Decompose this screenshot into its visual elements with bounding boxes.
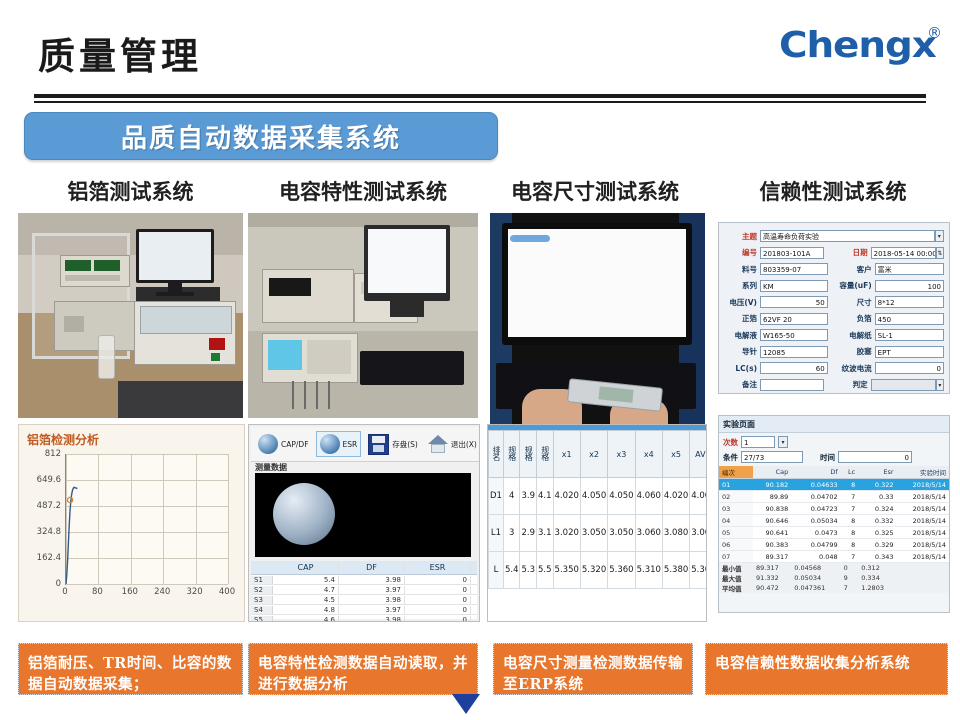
form-row-9[interactable]: LC(s)60纹波电流0 [719,361,944,376]
measurement-cell: S3 [251,596,273,604]
network-globe-icon [273,483,335,545]
summary-cell: 0.334 [858,573,896,583]
brand-wordmark: Chengx [779,28,936,64]
reliability-cell: 0.324 [858,503,896,515]
form-input[interactable]: 0 [875,362,944,374]
measurement-data-grid[interactable]: CAPDFESRS15.43.980S24.73.970S34.53.980S4… [251,561,477,619]
dimension-cell: D1 [489,478,504,515]
table-row[interactable]: S24.73.970 [251,585,477,595]
dimension-header-row: 排名规格规格规格x1x2x3x4x5AVG结果 [489,431,708,478]
chart-gridline-vertical [228,454,229,584]
measurement-grid-col-2: CAP [273,563,339,572]
toolbar-button-label: ESR [343,440,358,449]
form-row-7[interactable]: 电解液W165-50电解纸SL-1 [719,328,944,343]
reliability-col-6[interactable]: 实验时间 [897,466,949,479]
measurement-cell: 3.98 [339,596,405,604]
form-label: 容量(uF) [834,280,875,291]
table-row[interactable]: L5.45.35.55.3505.3205.3605.3105.3805.300… [489,552,708,589]
measurement-cell: 0 [405,586,471,594]
reliability-cell: 8 [841,539,859,551]
dimension-cell: 5.310 [635,552,662,589]
table-row[interactable]: 0190.1820.0463380.3222018/5/14 [719,479,949,491]
summary-cell: 1.2803 [858,583,896,593]
dimension-cell: 4.050 [580,478,607,515]
measurement-section-label: 测量数据 [255,462,287,473]
column-heading-foil: 铝箔测试系统 [18,176,243,204]
measurement-grid-col-3: DF [339,563,405,572]
reliability-cell: 2018/5/14 [897,539,949,551]
reliability-cell: 06 [719,539,753,551]
dimension-cell: 4.050 [608,478,635,515]
dimension-cell: 4.020 [553,478,580,515]
dimension-cell: 4.060 [635,478,662,515]
summary-cell: 0.312 [858,563,896,574]
measurement-software-panel[interactable]: CAP/DFESR存盘(S)退出(X) 测量数据 CAPDFESRS15.43.… [248,424,480,622]
table-row[interactable]: S44.83.970 [251,605,477,615]
form-row-11[interactable]: 例箱号11 [719,394,944,395]
dimension-data-grid-panel[interactable]: 排名规格规格规格x1x2x3x4x5AVG结果D143.94.14.0204.0… [487,424,707,622]
measurement-cell: 4.6 [273,616,339,623]
measurement-cell: S2 [251,586,273,594]
summary-cell: 91.332 [753,573,791,583]
form-input[interactable]: W165-50 [760,329,828,341]
dimension-col-1[interactable]: 排名 [489,431,504,478]
summary-cell: 最小值 [719,563,753,574]
reliability-cell: 0.04799 [791,539,840,551]
dimension-cell: 4 [503,478,520,515]
reliability-cell: 2018/5/14 [897,551,949,563]
dimension-cell: 3.000 [690,515,707,552]
form-input[interactable]: 201803-101A [760,247,824,259]
form-row-8[interactable]: 导针12085胶塞EPT [719,344,944,359]
form-input[interactable]: 803359-07 [760,263,828,275]
times-dropdown-icon[interactable]: ▾ [778,436,788,448]
reliability-cell: 8 [841,479,859,491]
summary-cell: 89.317 [753,563,791,574]
measurement-cell: 0 [405,606,471,614]
dimension-cell: 5.5 [537,552,554,589]
table-row[interactable]: 0789.3170.04870.3432018/5/14 [719,551,949,563]
time-label: 时间 [820,452,835,463]
summary-cell: 0.047361 [791,583,840,593]
reliability-cell: 07 [719,551,753,563]
form-input[interactable] [760,379,824,391]
dimension-cell: 4.1 [537,478,554,515]
chevron-down-icon[interactable]: ▾ [935,230,944,242]
table-row[interactable]: 0390.8380.0472370.3242018/5/14 [719,503,949,515]
reliability-cell: 90.383 [753,539,791,551]
summary-cell: 0.04568 [791,563,840,574]
reliability-cell: 02 [719,491,753,503]
reliability-cell: 0.33 [858,491,896,503]
form-label: 客户 [834,264,875,275]
dimension-cell: 3 [503,515,520,552]
dimension-col-3[interactable]: 规格 [520,431,537,478]
dimension-cell: 3.060 [635,515,662,552]
table-row[interactable]: L132.93.13.0203.0503.0503.0603.0803.000O… [489,515,708,552]
reliability-cell: 90.646 [753,515,791,527]
reliability-cell: 8 [841,515,859,527]
form-label: 胶塞 [834,346,875,357]
summary-cell: 0 [841,563,859,574]
dimension-cell: 3.020 [553,515,580,552]
measurement-toolbar[interactable]: CAP/DFESR存盘(S)退出(X) [251,427,479,462]
dimension-table[interactable]: 排名规格规格规格x1x2x3x4x5AVG结果D143.94.14.0204.0… [488,430,707,589]
caption-capacitor: 电容特性检测数据自动读取，并进行数据分析 [248,643,478,695]
measurement-grid-col-4: ESR [405,563,471,572]
reliability-cell: 0.322 [858,479,896,491]
form-label: 电解液 [719,330,760,341]
down-arrow-icon [452,694,480,714]
reliability-entry-form[interactable]: 主题高温寿命负荷实验▾编号201803-101A日期2018-05-14 00:… [718,222,950,394]
form-input[interactable]: 高温寿命负荷实验 [760,230,935,242]
reliability-cell: 2018/5/14 [897,515,949,527]
measurement-cell: 3.98 [339,576,405,584]
column-heading-dimension: 电容尺寸测试系统 [485,176,705,204]
reliability-table[interactable]: 编次CapDfLcEsr实验时间0190.1820.0463380.322201… [719,466,949,593]
column-heading-reliability: 信赖性测试系统 [718,176,948,204]
chart-plot-area [65,454,228,585]
chart-ytick-label: 162.4 [19,553,61,563]
form-row-4[interactable]: 系列KM容量(uF)100 [719,278,944,293]
chart-ytick-label: 0 [19,579,61,589]
measurement-grid-header: CAPDFESR [251,561,477,575]
dimension-cell: 5.4 [503,552,520,589]
form-label: 主题 [719,231,760,242]
home-exit-icon [428,435,448,453]
toolbar-button-4[interactable]: 退出(X) [425,433,480,455]
reliability-cell: 0.325 [858,527,896,539]
reliability-cell: 0.332 [858,515,896,527]
toolbar-button-2[interactable]: ESR [316,431,362,457]
reliability-cell: 2018/5/14 [897,491,949,503]
chart-ytick-label: 487.2 [19,501,61,511]
form-label: 电压(V) [719,297,760,308]
chevron-down-icon[interactable]: ▾ [936,379,944,391]
form-row-1[interactable]: 主题高温寿命负荷实验▾ [719,229,944,244]
caption-reliability: 电容信赖性数据收集分析系统 [705,643,948,695]
times-label: 次数 [723,437,738,448]
form-input[interactable]: 富米 [875,263,944,275]
dimension-cell: 5.320 [580,552,607,589]
form-input[interactable]: 2018-05-14 00:00 [871,247,936,259]
form-input[interactable]: KM [760,280,828,292]
measurement-cell: 0 [405,576,471,584]
caption-dimension: 电容尺寸测量检测数据传输至ERP系统 [493,643,693,695]
form-row-3[interactable]: 料号803359-07客户富米 [719,262,944,277]
table-row[interactable]: S15.43.980 [251,575,477,585]
form-label: 纹波电流 [834,363,875,374]
form-label: 日期 [830,247,871,258]
page-title: 质量管理 [38,26,202,80]
summary-row: 平均值90.4720.04736171.2803 [719,583,949,593]
chart-ytick-label: 649.6 [19,475,61,485]
reliability-cell: 0.048 [791,551,840,563]
dimension-col-8[interactable]: x4 [635,431,662,478]
toolbar-button-3[interactable]: 存盘(S) [365,432,421,457]
spinner-icon[interactable]: ⇅ [936,247,944,259]
reliability-data-panel[interactable]: 实验页面 次数 1 ▾ 条件 27/73 时间 0 编次CapDfLcEsr实验… [718,415,950,613]
form-input[interactable]: 62VF 20 [760,313,828,325]
condition-label: 条件 [723,452,738,463]
summary-cell [897,563,949,574]
condition-input[interactable]: 27/73 [741,451,803,463]
section-banner-label: 品质自动数据采集系统 [25,113,497,159]
dimension-col-6[interactable]: x2 [580,431,607,478]
reliability-col-4[interactable]: Lc [841,466,859,479]
toolbar-button-label: CAP/DF [281,440,309,449]
table-row[interactable]: D143.94.14.0204.0504.0504.0604.0204.000O… [489,478,708,515]
measurement-cell: 0 [405,596,471,604]
form-label: 正箔 [719,313,760,324]
measurement-display-area [255,473,471,557]
form-label: 尺寸 [834,297,875,308]
summary-row: 最大值91.3320.0503490.334 [719,573,949,583]
form-label: 系列 [719,280,760,291]
reliability-cell: 2018/5/14 [897,527,949,539]
measurement-cell: 3.97 [339,586,405,594]
reliability-cell: 7 [841,551,859,563]
reliability-cell: 0.05034 [791,515,840,527]
chart-title: 铝箔检测分析 [27,431,99,448]
form-label: LC(s) [719,364,760,373]
form-row-2[interactable]: 编号201803-101A日期2018-05-14 00:00⇅ [719,245,944,260]
dimension-cell: L [489,552,504,589]
dimension-cell: 3.1 [537,515,554,552]
reliability-cell: 89.317 [753,551,791,563]
reliability-cell: 89.89 [753,491,791,503]
photo-capacitor-characteristic-bench [248,213,478,418]
chart-xtick-label: 80 [83,587,111,597]
reliability-cell: 0.04633 [791,479,840,491]
summary-cell: 0.05034 [791,573,840,583]
dimension-cell: 5.3 [520,552,537,589]
dimension-cell: 3.050 [608,515,635,552]
form-row-10[interactable]: 备注判定▾ [719,377,944,392]
dimension-col-4[interactable]: 规格 [537,431,554,478]
summary-cell: 90.472 [753,583,791,593]
measurement-cell: 0 [405,616,471,623]
chart-gridline-horizontal [66,584,228,585]
reliability-cell: 2018/5/14 [897,479,949,491]
form-input[interactable]: 450 [875,313,944,325]
reliability-header-row: 编次CapDfLcEsr实验时间 [719,466,949,479]
reliability-cell: 04 [719,515,753,527]
reliability-condition-row[interactable]: 条件 27/73 时间 0 [719,451,949,466]
reliability-cell: 8 [841,527,859,539]
form-label: 负箔 [834,313,875,324]
table-row[interactable]: 0490.6460.0503480.3322018/5/14 [719,515,949,527]
dimension-cell: 5.350 [553,552,580,589]
slide-header: 质量管理 Chengx ® [0,0,960,100]
form-label: 料号 [719,264,760,275]
measurement-cell: 4.8 [273,606,339,614]
form-row-6[interactable]: 正箔62VF 20负箔450 [719,311,944,326]
measurement-cell: 5.4 [273,576,339,584]
form-input[interactable] [871,379,936,391]
dimension-cell: 3.050 [580,515,607,552]
reliability-col-3[interactable]: Df [791,466,840,479]
reliability-cell: 0.343 [858,551,896,563]
reliability-col-5[interactable]: Esr [858,466,896,479]
form-input[interactable]: SL-1 [875,329,944,341]
foil-analysis-chart-panel: 铝箔检测分析 0801602403204000162.4324.8487.264… [18,424,245,622]
measurement-cell: S5 [251,616,273,623]
summary-cell [897,583,949,593]
dimension-cell: 3.080 [662,515,689,552]
section-banner: 品质自动数据采集系统 [24,112,498,160]
table-row[interactable]: 0690.3830.0479980.3292018/5/14 [719,539,949,551]
reliability-cell: 05 [719,527,753,539]
chart-xtick-label: 240 [148,587,176,597]
summary-cell: 最大值 [719,573,753,583]
form-label: 备注 [719,379,760,390]
reliability-cell: 01 [719,479,753,491]
floppy-disk-icon [368,434,389,455]
form-row-5[interactable]: 电压(V)50尺寸8*12 [719,295,944,310]
reliability-col-2[interactable]: Cap [753,466,791,479]
table-row[interactable]: 0590.6410.047380.3252018/5/14 [719,527,949,539]
column-heading-capacitor: 电容特性测试系统 [248,176,478,204]
form-input[interactable]: 100 [875,280,944,292]
toolbar-button-label: 存盘(S) [392,439,418,450]
dimension-cell: 5.300 [690,552,707,589]
reliability-cell: 90.838 [753,503,791,515]
measurement-cell: S4 [251,606,273,614]
measurement-cell: 4.5 [273,596,339,604]
reliability-cell: 03 [719,503,753,515]
table-row[interactable]: S34.53.980 [251,595,477,605]
form-input[interactable]: 8*12 [875,296,944,308]
reliability-cell: 7 [841,491,859,503]
toolbar-button-1[interactable]: CAP/DF [255,432,312,456]
chart-xtick-label: 160 [116,587,144,597]
measurement-cell: 4.7 [273,586,339,594]
photo-foil-test-bench [18,213,243,418]
summary-cell: 平均值 [719,583,753,593]
summary-cell [897,573,949,583]
reliability-cell: 0.329 [858,539,896,551]
summary-cell: 9 [841,573,859,583]
dimension-col-9[interactable]: x5 [662,431,689,478]
reliability-col-1[interactable]: 编次 [719,466,753,479]
dimension-cell: L1 [489,515,504,552]
dimension-col-5[interactable]: x1 [553,431,580,478]
dimension-cell: 5.360 [608,552,635,589]
reliability-cell: 2018/5/14 [897,503,949,515]
reliability-cell: 0.04723 [791,503,840,515]
table-row[interactable]: 0289.890.0470270.332018/5/14 [719,491,949,503]
form-input[interactable]: 50 [760,296,828,308]
form-label: 编号 [719,247,760,258]
times-input[interactable]: 1 [741,436,775,448]
measurement-cell: S1 [251,576,273,584]
dimension-cell: 4.020 [662,478,689,515]
chart-series-line [66,454,228,584]
reliability-cell: 7 [841,503,859,515]
reliability-cell: 90.182 [753,479,791,491]
form-label: 电解纸 [834,330,875,341]
dimension-cell: 5.380 [662,552,689,589]
chart-ytick-label: 324.8 [19,527,61,537]
reliability-cell: 0.0473 [791,527,840,539]
header-rule-thin [34,101,926,103]
form-input[interactable]: 12085 [760,346,828,358]
chart-xtick-label: 400 [213,587,241,597]
reliability-cell: 90.641 [753,527,791,539]
summary-row: 最小值89.3170.0456800.312 [719,563,949,574]
chart-ytick-label: 812 [19,449,61,459]
brand-logo: Chengx ® [779,28,942,64]
table-row[interactable]: S54.63.980 [251,615,477,622]
header-rule-thick [34,94,926,98]
form-label: 判定 [830,379,871,390]
measurement-cell: 3.97 [339,606,405,614]
reliability-cell: 0.04702 [791,491,840,503]
reliability-panel-title: 实验页面 [719,416,949,433]
globe-icon [258,434,278,454]
dimension-col-7[interactable]: x3 [608,431,635,478]
chart-xtick-label: 320 [181,587,209,597]
measurement-cell: 3.98 [339,616,405,623]
summary-cell: 7 [841,583,859,593]
dimension-col-2[interactable]: 规格 [503,431,520,478]
photo-caliper-measurement [490,213,705,428]
dimension-cell: 4.000 [690,478,707,515]
form-label: 导针 [719,346,760,357]
caption-foil: 铝箔耐压、TR时间、比容的数据自动数据采集； [18,643,243,695]
dimension-cell: 2.9 [520,515,537,552]
dimension-col-10[interactable]: AVG [690,431,707,478]
globe-icon [320,434,340,454]
time-input[interactable]: 0 [838,451,912,463]
form-input[interactable]: EPT [875,346,944,358]
toolbar-button-label: 退出(X) [451,439,477,450]
reliability-controls[interactable]: 次数 1 ▾ [719,433,949,451]
dimension-cell: 3.9 [520,478,537,515]
form-input[interactable]: 60 [760,362,828,374]
